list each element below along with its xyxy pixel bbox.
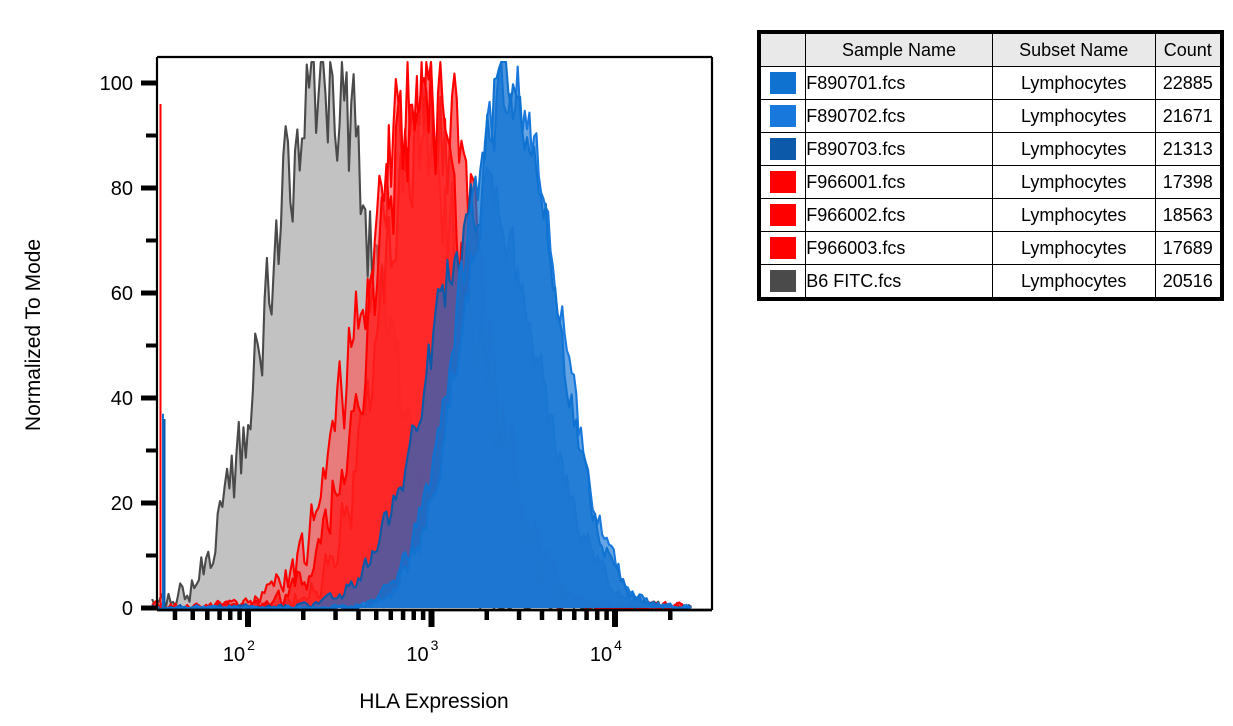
legend-header-sample-name[interactable]: Sample Name xyxy=(806,34,993,67)
legend-count[interactable]: 21313 xyxy=(1155,133,1220,166)
x-tick-mantissa-1: 10 xyxy=(406,644,428,666)
legend-sample-name[interactable]: F966003.fcs xyxy=(806,232,993,265)
legend-row[interactable]: B6 FITC.fcsLymphocytes20516 xyxy=(761,265,1221,298)
histogram-plot-panel: 020406080100102103104 Normalized To Mode… xyxy=(0,0,740,726)
legend-row[interactable]: F890703.fcsLymphocytes21313 xyxy=(761,133,1221,166)
legend-header-count[interactable]: Count xyxy=(1155,34,1220,67)
legend-color-swatch-cell[interactable] xyxy=(761,199,806,232)
y-axis-title: Normalized To Mode xyxy=(22,239,45,431)
color-swatch-icon xyxy=(770,237,796,259)
legend-sample-name[interactable]: B6 FITC.fcs xyxy=(806,265,993,298)
x-axis-title: HLA Expression xyxy=(359,690,508,713)
legend-subset-name[interactable]: Lymphocytes xyxy=(992,67,1155,100)
legend-subset-name[interactable]: Lymphocytes xyxy=(992,265,1155,298)
legend-row[interactable]: F890702.fcsLymphocytes21671 xyxy=(761,100,1221,133)
color-swatch-icon xyxy=(770,270,796,292)
legend-color-swatch-cell[interactable] xyxy=(761,232,806,265)
flow-cytometry-histogram: 020406080100102103104 Normalized To Mode… xyxy=(0,0,740,726)
legend-subset-name[interactable]: Lymphocytes xyxy=(992,133,1155,166)
legend-sample-name[interactable]: F966002.fcs xyxy=(806,199,993,232)
y-tick-label-100: 100 xyxy=(100,73,133,95)
x-tick-label-group-2: 104 xyxy=(590,637,622,666)
x-tick-mantissa-2: 10 xyxy=(590,644,612,666)
legend-count[interactable]: 20516 xyxy=(1155,265,1220,298)
y-tick-label-60: 60 xyxy=(111,283,133,305)
legend-color-swatch-cell[interactable] xyxy=(761,133,806,166)
legend-color-swatch-cell[interactable] xyxy=(761,265,806,298)
legend-subset-name[interactable]: Lymphocytes xyxy=(992,166,1155,199)
legend-count[interactable]: 22885 xyxy=(1155,67,1220,100)
legend-sample-name[interactable]: F890703.fcs xyxy=(806,133,993,166)
x-tick-exponent-0: 2 xyxy=(247,637,255,653)
legend-table[interactable]: Sample Name Subset Name Count F890701.fc… xyxy=(757,30,1224,301)
color-swatch-icon xyxy=(770,72,796,94)
legend-count[interactable]: 21671 xyxy=(1155,100,1220,133)
color-swatch-icon xyxy=(770,138,796,160)
legend-sample-name[interactable]: F966001.fcs xyxy=(806,166,993,199)
legend-row[interactable]: F966003.fcsLymphocytes17689 xyxy=(761,232,1221,265)
legend-row[interactable]: F966002.fcsLymphocytes18563 xyxy=(761,199,1221,232)
x-tick-exponent-2: 4 xyxy=(614,637,622,653)
legend-header-subset-name[interactable]: Subset Name xyxy=(992,34,1155,67)
legend-count[interactable]: 17398 xyxy=(1155,166,1220,199)
legend-row[interactable]: F890701.fcsLymphocytes22885 xyxy=(761,67,1221,100)
color-swatch-icon xyxy=(770,105,796,127)
x-tick-mantissa-0: 10 xyxy=(223,644,245,666)
legend-sample-name[interactable]: F890701.fcs xyxy=(806,67,993,100)
x-tick-exponent-1: 3 xyxy=(431,637,439,653)
legend-subset-name[interactable]: Lymphocytes xyxy=(992,199,1155,232)
x-tick-label-group-0: 102 xyxy=(223,637,255,666)
y-tick-label-20: 20 xyxy=(111,493,133,515)
legend-count[interactable]: 17689 xyxy=(1155,232,1220,265)
legend-header-swatch xyxy=(761,34,806,67)
legend-subset-name[interactable]: Lymphocytes xyxy=(992,100,1155,133)
legend-sample-name[interactable]: F890702.fcs xyxy=(806,100,993,133)
legend-subset-name[interactable]: Lymphocytes xyxy=(992,232,1155,265)
legend-color-swatch-cell[interactable] xyxy=(761,166,806,199)
legend-count[interactable]: 18563 xyxy=(1155,199,1220,232)
legend-color-swatch-cell[interactable] xyxy=(761,67,806,100)
legend-header-row: Sample Name Subset Name Count xyxy=(761,34,1221,67)
legend-row[interactable]: F966001.fcsLymphocytes17398 xyxy=(761,166,1221,199)
histogram-curves-layer xyxy=(152,62,691,608)
y-tick-label-80: 80 xyxy=(111,178,133,200)
legend-color-swatch-cell[interactable] xyxy=(761,100,806,133)
y-tick-label-40: 40 xyxy=(111,388,133,410)
color-swatch-icon xyxy=(770,204,796,226)
x-tick-label-group-1: 103 xyxy=(406,637,438,666)
y-tick-label-0: 0 xyxy=(122,598,133,620)
color-swatch-icon xyxy=(770,171,796,193)
